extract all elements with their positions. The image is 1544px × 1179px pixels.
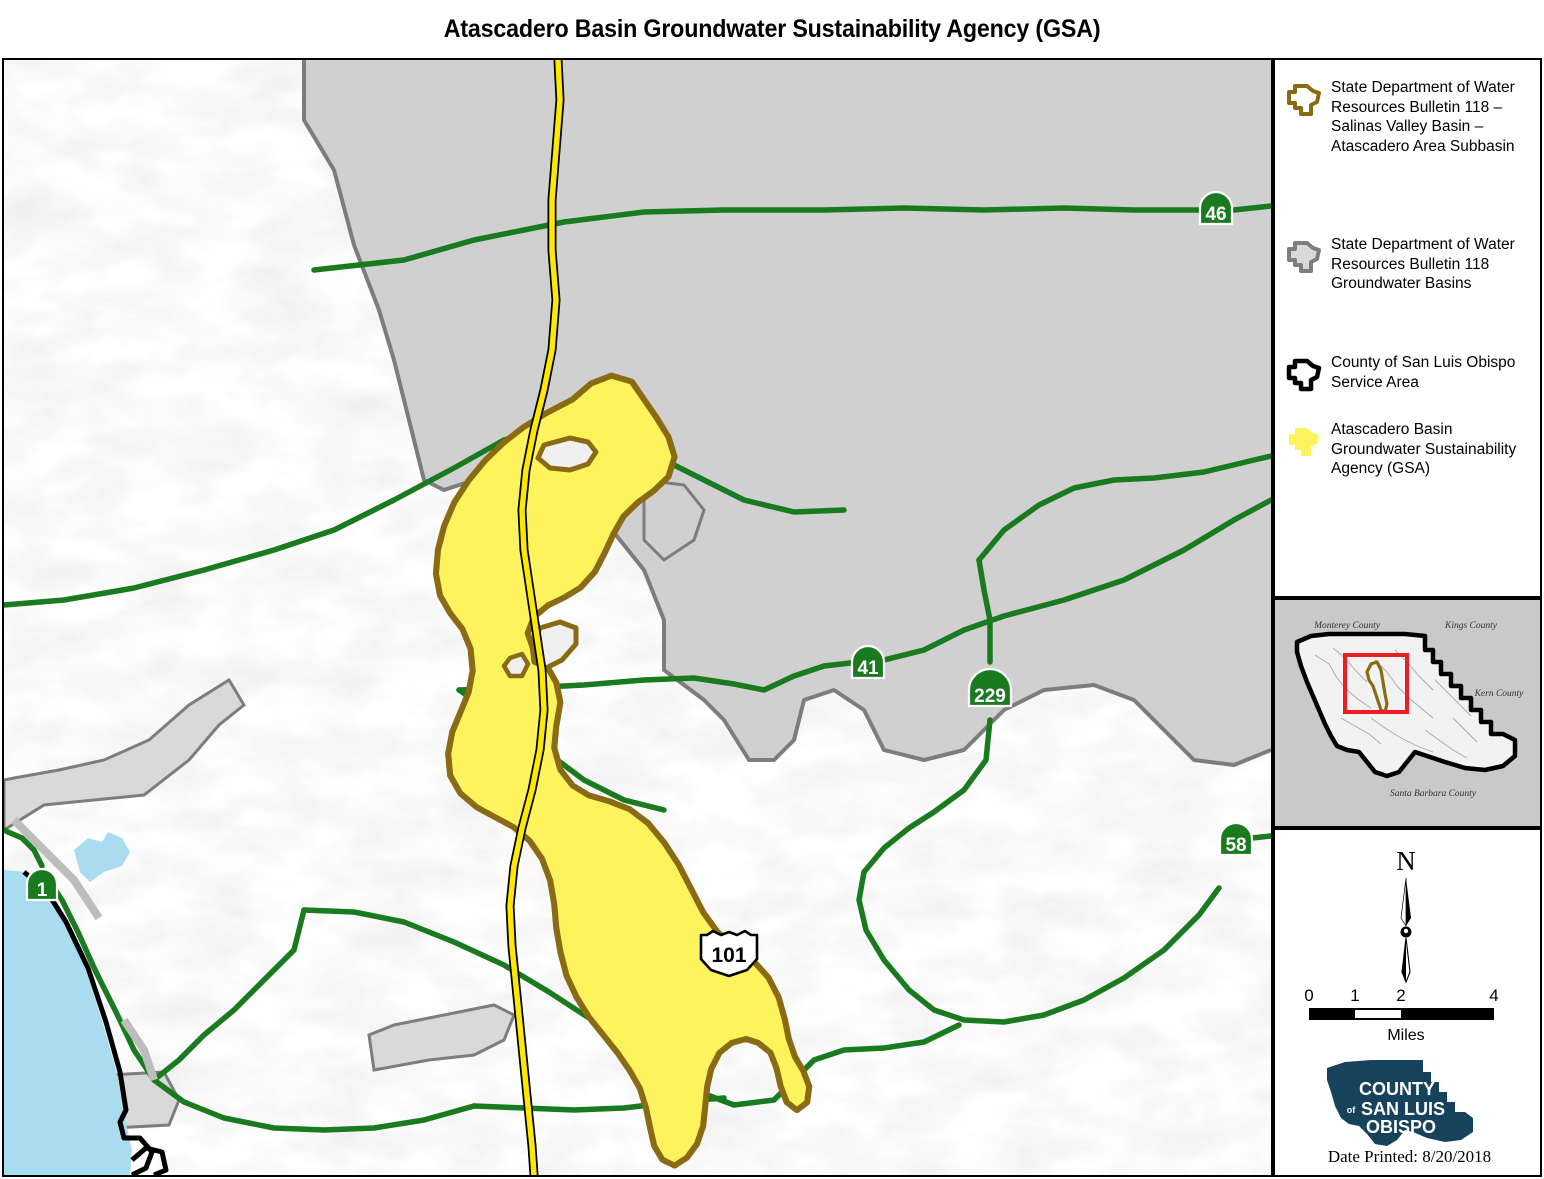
logo-line-obispo: OBISPO xyxy=(1366,1117,1436,1137)
legend-panel: State Department of Water Resources Bull… xyxy=(1273,58,1542,598)
highway-shield-58: 58 xyxy=(1220,823,1252,856)
date-printed-label: Date Printed: 8/20/2018 xyxy=(1275,1147,1544,1167)
scalebar-tick-4: 4 xyxy=(1489,986,1498,1005)
inset-label-kings: Kings County xyxy=(1444,621,1498,631)
highway-shield-1: 1 xyxy=(27,869,57,901)
legend-item-label: Atascadero Basin Groundwater Sustainabil… xyxy=(1327,420,1535,479)
svg-text:46: 46 xyxy=(1205,204,1226,225)
svg-text:229: 229 xyxy=(974,686,1006,707)
polygon-fill-swatch-icon xyxy=(1283,424,1327,464)
locator-inset-map[interactable]: Monterey County Kings County Kern County… xyxy=(1275,600,1540,826)
inset-label-santa-barbara: Santa Barbara County xyxy=(1390,789,1477,799)
north-arrow-label: N xyxy=(1396,846,1416,876)
legend-item-b118-basins: State Department of Water Resources Bull… xyxy=(1283,235,1535,294)
side-panel: State Department of Water Resources Bull… xyxy=(1273,58,1542,1177)
svg-text:58: 58 xyxy=(1225,835,1246,856)
page-title: Atascadero Basin Groundwater Sustainabil… xyxy=(444,15,1101,44)
polygon-outline-swatch-icon xyxy=(1283,82,1327,122)
map-tools-graphics: N 0 1 2 4 Miles xyxy=(1275,830,1540,1175)
legend-item-atascadero-subbasin: State Department of Water Resources Bull… xyxy=(1283,78,1535,156)
logo-line-county: COUNTY xyxy=(1359,1079,1435,1099)
map-tools-panel: N 0 1 2 4 Miles xyxy=(1273,828,1542,1177)
scalebar-tick-1: 1 xyxy=(1350,986,1359,1005)
scalebar-tick-0: 0 xyxy=(1304,986,1313,1005)
locator-inset-panel[interactable]: Monterey County Kings County Kern County… xyxy=(1273,598,1542,828)
scalebar-tick-2: 2 xyxy=(1396,986,1405,1005)
legend-item-gsa: Atascadero Basin Groundwater Sustainabil… xyxy=(1283,420,1535,479)
polygon-outline-swatch-icon xyxy=(1283,239,1327,279)
svg-text:1: 1 xyxy=(37,880,48,901)
title-bar: Atascadero Basin Groundwater Sustainabil… xyxy=(0,0,1544,58)
legend-item-county-service-area: County of San Luis Obispo Service Area xyxy=(1283,353,1535,397)
highway-shield-101: 101 xyxy=(701,931,757,976)
logo-line-of: of xyxy=(1347,1105,1356,1115)
main-map-frame[interactable]: 46 41 229 58 1 xyxy=(2,58,1273,1177)
logo-line-san-luis: SAN LUIS xyxy=(1361,1099,1445,1119)
legend-item-label: State Department of Water Resources Bull… xyxy=(1327,78,1535,156)
main-map-canvas[interactable]: 46 41 229 58 1 xyxy=(4,60,1271,1175)
inset-label-kern: Kern County xyxy=(1474,689,1525,699)
map-page: Atascadero Basin Groundwater Sustainabil… xyxy=(0,0,1544,1179)
legend-item-label: County of San Luis Obispo Service Area xyxy=(1327,353,1535,392)
svg-text:101: 101 xyxy=(711,944,746,967)
legend-item-label: State Department of Water Resources Bull… xyxy=(1327,235,1535,294)
svg-text:41: 41 xyxy=(857,658,879,679)
scalebar-units-label: Miles xyxy=(1387,1027,1424,1044)
scale-bar: 0 1 2 4 Miles xyxy=(1304,986,1498,1044)
north-arrow-icon: N xyxy=(1396,846,1416,982)
polygon-outline-swatch-icon xyxy=(1283,357,1327,397)
inset-label-monterey: Monterey County xyxy=(1313,621,1381,631)
highway-shield-46: 46 xyxy=(1200,192,1232,225)
slo-county-logo: COUNTY of SAN LUIS OBISPO xyxy=(1327,1060,1473,1146)
highway-shield-229: 229 xyxy=(969,669,1011,707)
highway-shield-41: 41 xyxy=(852,646,884,679)
